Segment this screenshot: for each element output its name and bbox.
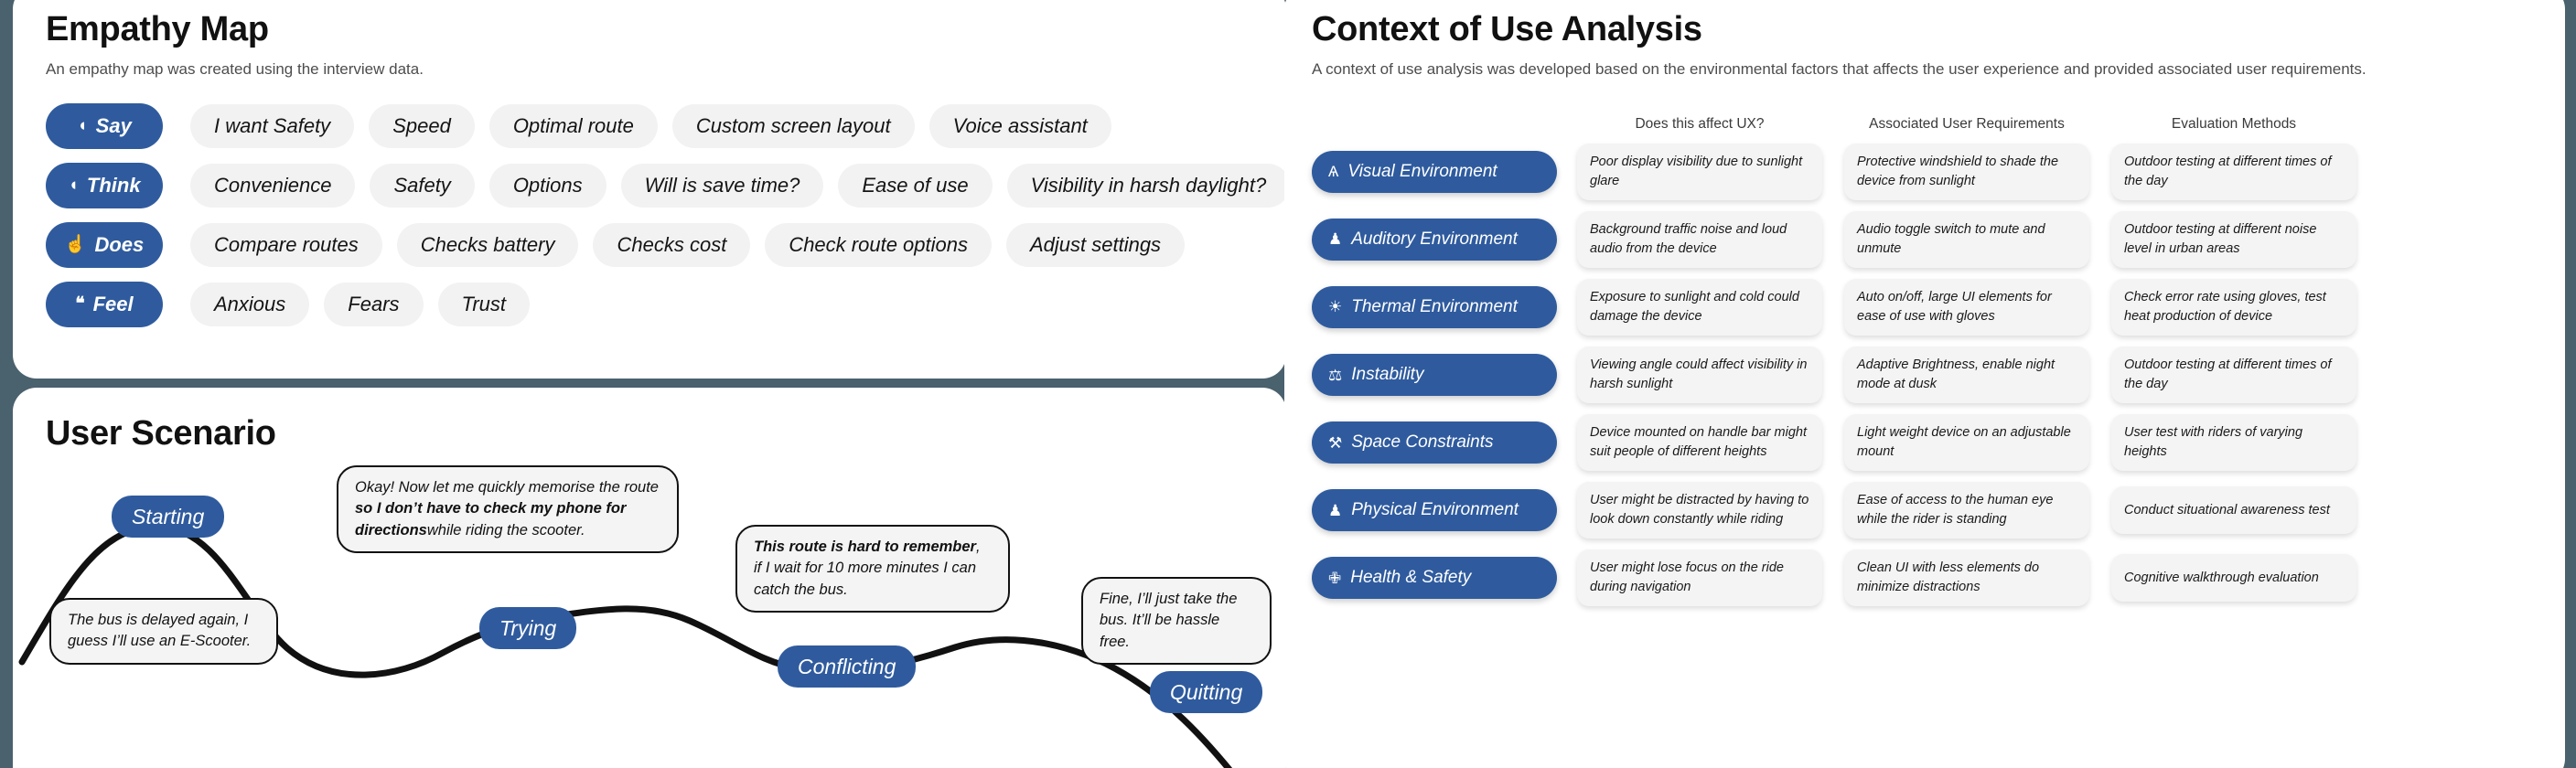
thermometer-sun-icon: ☀ [1328,299,1342,315]
speech-head-icon: ◖ [77,117,87,134]
scenario-node-starting[interactable]: Starting [112,496,224,538]
empathy-tag[interactable]: Checks cost [593,223,750,267]
context-cell-affect: Background traffic noise and loud audio … [1577,211,1822,268]
context-of-use-card: Context of Use Analysis A context of use… [1284,0,2565,768]
thinking-head-icon: ◖ [68,176,78,194]
context-rows: ѦVisual EnvironmentPoor display visibili… [1312,144,2528,606]
context-cell-method: Conduct situational awareness test [2111,486,2356,534]
context-cell-affect: Exposure to sunlight and cold could dama… [1577,279,1822,336]
empathy-tag[interactable]: Optimal route [489,104,658,148]
context-factor-space-constraints[interactable]: ⚒Space Constraints [1312,421,1557,464]
empathy-row-think: ◖ThinkConvenienceSafetyOptionsWill is sa… [46,163,1253,208]
callout-memorise: Okay! Now let me quickly memorise the ro… [337,465,679,553]
empathy-tag[interactable]: Compare routes [190,223,382,267]
context-factor-visual-environment[interactable]: ѦVisual Environment [1312,151,1557,193]
context-factor-label: Thermal Environment [1351,297,1518,317]
callout-tail: I’ll use an E-Scooter. [113,633,252,649]
empathy-label-text: Does [94,233,144,257]
context-column-headers: Does this affect UX? Associated User Req… [1312,116,2528,133]
context-row: ☀Thermal EnvironmentExposure to sunlight… [1312,279,2528,336]
context-cell-affect: User might lose focus on the ride during… [1577,549,1822,606]
context-factor-label: Space Constraints [1351,432,1493,453]
callout-take-the-bus: Fine, I’ll just take the bus. It’ll be h… [1081,577,1272,665]
context-factor-physical-environment[interactable]: ♟Physical Environment [1312,489,1557,531]
speaker-person-icon: ♟ [1328,231,1342,247]
tap-hand-icon: ☝ [65,236,87,253]
user-scenario-title: User Scenario [46,415,1253,453]
context-cell-affect: User might be distracted by having to lo… [1577,482,1822,539]
empathy-tag[interactable]: Anxious [190,283,309,326]
context-row: ⚖InstabilityViewing angle could affect v… [1312,347,2528,403]
context-subtitle: A context of use analysis was developed … [1312,59,2528,80]
context-factor-label: Visual Environment [1347,162,1497,182]
column-header-affect: Does this affect UX? [1577,116,1822,133]
context-factor-health-safety[interactable]: ✙Health & Safety [1312,557,1557,599]
context-cell-requirement: Protective windshield to shade the devic… [1844,144,2089,200]
empathy-tag[interactable]: Checks battery [397,223,579,267]
empathy-tag[interactable]: Check route options [765,223,992,267]
empathy-label-text: Say [96,114,132,138]
callout-emphasis: This route is hard to remember [754,539,976,555]
empathy-rows: ◖SayI want SafetySpeedOptimal routeCusto… [46,103,1253,327]
context-factor-label: Auditory Environment [1351,229,1518,250]
context-cell-method: Check error rate using gloves, test heat… [2111,279,2356,336]
context-cell-method: Outdoor testing at different times of th… [2111,347,2356,403]
context-cell-method: Outdoor testing at different noise level… [2111,211,2356,268]
scenario-node-quitting[interactable]: Quitting [1150,671,1262,713]
empathy-tag[interactable]: Speed [369,104,475,148]
shield-plus-icon: ✙ [1328,571,1341,586]
empathy-tag[interactable]: Ease of use [838,164,992,208]
empathy-tag[interactable]: Will is save time? [621,164,824,208]
context-factor-thermal-environment[interactable]: ☀Thermal Environment [1312,286,1557,328]
scenario-node-trying[interactable]: Trying [479,607,576,649]
scenario-node-conflicting[interactable]: Conflicting [778,645,916,688]
context-row: ♟Physical EnvironmentUser might be distr… [1312,482,2528,539]
empathy-row-feel: ❝FeelAnxiousFearsTrust [46,282,1253,327]
context-row: ♟Auditory EnvironmentBackground traffic … [1312,211,2528,268]
context-row: ѦVisual EnvironmentPoor display visibili… [1312,144,2528,200]
empathy-tag[interactable]: Visibility in harsh daylight? [1007,164,1291,208]
empathy-map-subtitle: An empathy map was created using the int… [46,59,1253,80]
context-cell-affect: Poor display visibility due to sunlight … [1577,144,1822,200]
context-cell-affect: Device mounted on handle bar might suit … [1577,414,1822,471]
empathy-tag[interactable]: Fears [324,283,423,326]
context-factor-label: Physical Environment [1351,500,1519,520]
empathy-tag[interactable]: Trust [438,283,530,326]
empathy-label-say[interactable]: ◖Say [46,103,163,149]
callout-tail: while riding the scooter. [427,522,585,539]
empathy-label-text: Think [87,174,141,197]
empathy-tag[interactable]: Custom screen layout [672,104,915,148]
context-cell-method: Outdoor testing at different times of th… [2111,144,2356,200]
context-factor-label: Instability [1351,365,1423,385]
context-row: ✙Health & SafetyUser might lose focus on… [1312,549,2528,606]
context-factor-label: Health & Safety [1350,568,1471,588]
empathy-label-text: Feel [93,293,134,316]
empathy-map-title: Empathy Map [46,11,1253,49]
column-header-method: Evaluation Methods [2111,116,2356,133]
binoculars-icon: Ѧ [1328,164,1338,179]
left-column: Empathy Map An empathy map was created u… [0,0,1292,768]
scooter-icon: ⚒ [1328,435,1342,451]
user-scenario-card: User Scenario StartingTryingConflictingQ… [13,388,1286,768]
empathy-label-think[interactable]: ◖Think [46,163,163,208]
quote-bubble-icon: ❝ [75,295,84,313]
callout-lead: Okay! Now let me quickly memorise the ro… [355,479,659,496]
empathy-label-feel[interactable]: ❝Feel [46,282,163,327]
empathy-tag[interactable]: Voice assistant [929,104,1111,148]
empathy-tag[interactable]: Options [489,164,606,208]
context-factor-auditory-environment[interactable]: ♟Auditory Environment [1312,219,1557,261]
context-cell-requirement: Light weight device on an adjustable mou… [1844,414,2089,471]
document-page: Empathy Map An empathy map was created u… [0,0,2576,768]
column-header-requirement: Associated User Requirements [1844,116,2089,133]
callout-bus-delayed: The bus is delayed again, I guess I’ll u… [49,598,278,665]
context-cell-requirement: Audio toggle switch to mute and unmute [1844,211,2089,268]
context-cell-method: Cognitive walkthrough evaluation [2111,554,2356,602]
empathy-row-does: ☝DoesCompare routesChecks batteryChecks … [46,222,1253,268]
right-column: Context of Use Analysis A context of use… [1292,0,2576,768]
person-icon: ♟ [1328,503,1342,518]
context-factor-instability[interactable]: ⚖Instability [1312,354,1557,396]
context-cell-requirement: Adaptive Brightness, enable night mode a… [1844,347,2089,403]
context-cell-requirement: Auto on/off, large UI elements for ease … [1844,279,2089,336]
context-cell-method: User test with riders of varying heights [2111,414,2356,471]
empathy-tag[interactable]: Adjust settings [1006,223,1185,267]
empathy-tag[interactable]: Safety [370,164,474,208]
header-spacer [1312,116,1577,133]
context-cell-requirement: Clean UI with less elements do minimize … [1844,549,2089,606]
empathy-tag[interactable]: Convenience [190,164,355,208]
empathy-tag[interactable]: I want Safety [190,104,354,148]
balance-scale-icon: ⚖ [1328,368,1342,383]
context-row: ⚒Space ConstraintsDevice mounted on hand… [1312,414,2528,471]
context-cell-requirement: Ease of access to the human eye while th… [1844,482,2089,539]
empathy-row-say: ◖SayI want SafetySpeedOptimal routeCusto… [46,103,1253,149]
empathy-map-card: Empathy Map An empathy map was created u… [13,0,1286,379]
empathy-label-does[interactable]: ☝Does [46,222,163,268]
context-cell-affect: Viewing angle could affect visibility in… [1577,347,1822,403]
context-title: Context of Use Analysis [1312,11,2528,49]
callout-hard-to-remember: This route is hard to remember, if I wai… [735,525,1010,613]
